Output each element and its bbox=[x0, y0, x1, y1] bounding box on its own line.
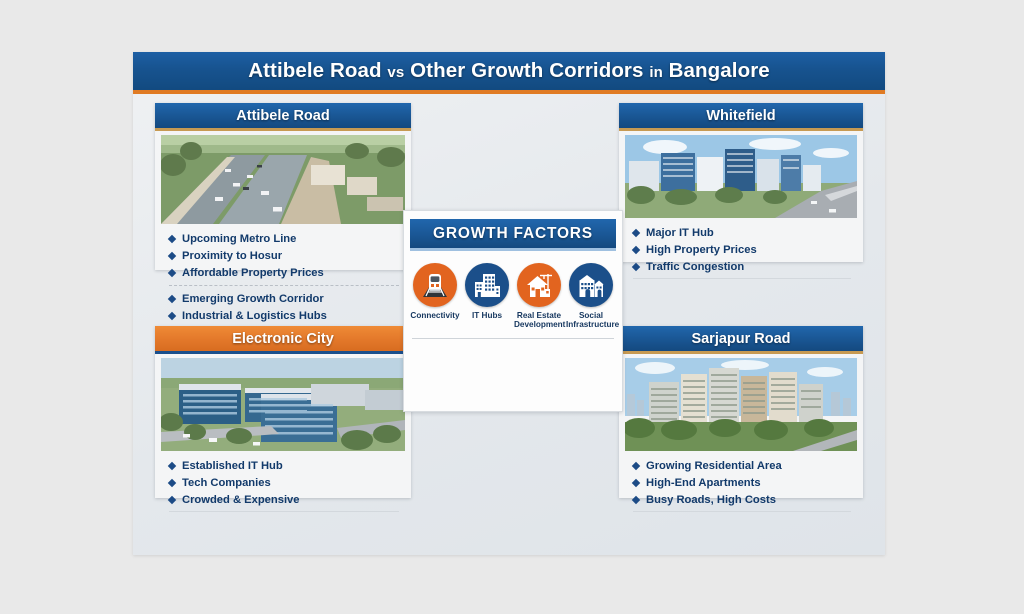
title-part-1: Attibele Road bbox=[248, 59, 381, 82]
panel-photo-sarjapur-road bbox=[625, 358, 857, 451]
screenshot-stage: Attibele Road vs Other Growth Corridors … bbox=[0, 0, 1024, 614]
growth-factor-label: Connectivity bbox=[410, 311, 460, 320]
panel-title: Attibele Road bbox=[236, 108, 329, 124]
list-item: Growing Residential Area bbox=[633, 460, 863, 472]
list-item-label: Traffic Congestion bbox=[646, 261, 744, 273]
metro-train-icon bbox=[413, 263, 457, 307]
growth-factor-label: Real Estate Development bbox=[514, 311, 564, 330]
list-item: Tech Companies bbox=[169, 477, 411, 489]
growth-factors-underline bbox=[412, 338, 614, 339]
list-item: Industrial & Logistics Hubs bbox=[169, 310, 411, 322]
list-item-label: Major IT Hub bbox=[646, 227, 714, 239]
diamond-bullet-icon bbox=[632, 263, 640, 271]
list-item: Busy Roads, High Costs bbox=[633, 494, 863, 506]
list-item-label: Crowded & Expensive bbox=[182, 494, 300, 506]
list-item-label: Tech Companies bbox=[182, 477, 271, 489]
list-item-label: Affordable Property Prices bbox=[182, 267, 324, 279]
list-item-label: High-End Apartments bbox=[646, 477, 761, 489]
growth-factors-list: Connectivity bbox=[404, 251, 622, 330]
growth-factor-it-hubs[interactable]: IT Hubs bbox=[462, 263, 512, 330]
diamond-bullet-icon bbox=[632, 496, 640, 504]
diamond-bullet-icon bbox=[632, 479, 640, 487]
growth-factors-header: GROWTH FACTORS bbox=[410, 219, 616, 251]
title-vs: vs bbox=[387, 64, 404, 81]
list-item: Major IT Hub bbox=[633, 227, 863, 239]
panel-bullets-whitefield: Major IT Hub High Property Prices Traffi… bbox=[619, 218, 863, 285]
list-item: High Property Prices bbox=[633, 244, 863, 256]
growth-factor-label: IT Hubs bbox=[462, 311, 512, 320]
bullet-divider bbox=[169, 285, 399, 286]
civic-buildings-icon bbox=[569, 263, 613, 307]
panel-header-electronic-city: Electronic City bbox=[155, 326, 411, 354]
bullet-endline bbox=[633, 511, 851, 512]
diamond-bullet-icon bbox=[168, 312, 176, 320]
list-item: Crowded & Expensive bbox=[169, 494, 411, 506]
office-buildings-icon bbox=[465, 263, 509, 307]
growth-factors-title: GROWTH FACTORS bbox=[433, 225, 593, 243]
list-item: High-End Apartments bbox=[633, 477, 863, 489]
panel-photo-whitefield bbox=[625, 135, 857, 218]
infographic-title-bar: Attibele Road vs Other Growth Corridors … bbox=[133, 52, 885, 94]
list-item-label: Industrial & Logistics Hubs bbox=[182, 310, 327, 322]
bullet-endline bbox=[633, 278, 851, 279]
bullet-endline bbox=[169, 511, 399, 512]
diamond-bullet-icon bbox=[168, 252, 176, 260]
growth-factor-real-estate[interactable]: Real Estate Development bbox=[514, 263, 564, 330]
list-item: Established IT Hub bbox=[169, 460, 411, 472]
diamond-bullet-icon bbox=[168, 295, 176, 303]
panel-bullets-electronic-city: Established IT Hub Tech Companies Crowde… bbox=[155, 451, 411, 518]
infographic-canvas: Attibele Road vs Other Growth Corridors … bbox=[133, 52, 885, 555]
diamond-bullet-icon bbox=[168, 496, 176, 504]
growth-factor-connectivity[interactable]: Connectivity bbox=[410, 263, 460, 330]
diamond-bullet-icon bbox=[632, 229, 640, 237]
growth-factor-label: Social Infrastructure bbox=[566, 311, 616, 330]
panel-title: Whitefield bbox=[706, 108, 775, 124]
title-part-2: Other Growth Corridors bbox=[410, 59, 643, 82]
list-item: Proximity to Hosur bbox=[169, 250, 411, 262]
diamond-bullet-icon bbox=[168, 269, 176, 277]
panel-header-sarjapur-road: Sarjapur Road bbox=[619, 326, 863, 354]
list-item-label: Upcoming Metro Line bbox=[182, 233, 296, 245]
list-item-label: High Property Prices bbox=[646, 244, 757, 256]
list-item: Affordable Property Prices bbox=[169, 267, 411, 279]
list-item-label: Growing Residential Area bbox=[646, 460, 782, 472]
list-item-label: Busy Roads, High Costs bbox=[646, 494, 776, 506]
growth-factor-social-infra[interactable]: Social Infrastructure bbox=[566, 263, 616, 330]
panel-photo-electronic-city bbox=[161, 358, 405, 451]
diamond-bullet-icon bbox=[168, 479, 176, 487]
growth-factors-panel[interactable]: GROWTH FACTORS bbox=[403, 210, 623, 412]
panel-title: Sarjapur Road bbox=[691, 331, 790, 347]
panel-electronic-city[interactable]: Electronic City bbox=[155, 326, 411, 498]
panel-header-attibele-road: Attibele Road bbox=[155, 103, 411, 131]
diamond-bullet-icon bbox=[632, 246, 640, 254]
house-crane-icon bbox=[517, 263, 561, 307]
title-in: in bbox=[649, 64, 663, 81]
list-item-label: Emerging Growth Corridor bbox=[182, 293, 324, 305]
diamond-bullet-icon bbox=[168, 462, 176, 470]
list-item-label: Established IT Hub bbox=[182, 460, 283, 472]
panel-attibele-road[interactable]: Attibele Road bbox=[155, 103, 411, 270]
panel-title: Electronic City bbox=[232, 331, 334, 347]
panel-bullets-sarjapur-road: Growing Residential Area High-End Apartm… bbox=[619, 451, 863, 518]
list-item-label: Proximity to Hosur bbox=[182, 250, 282, 262]
panel-bullets-attibele-road: Upcoming Metro Line Proximity to Hosur A… bbox=[155, 224, 411, 333]
diamond-bullet-icon bbox=[632, 462, 640, 470]
list-item: Emerging Growth Corridor bbox=[169, 293, 411, 305]
panel-header-whitefield: Whitefield bbox=[619, 103, 863, 131]
panel-photo-attibele-road bbox=[161, 135, 405, 224]
list-item: Traffic Congestion bbox=[633, 261, 863, 273]
title-part-3: Bangalore bbox=[669, 59, 770, 82]
panel-sarjapur-road[interactable]: Sarjapur Road bbox=[619, 326, 863, 498]
page-title: Attibele Road vs Other Growth Corridors … bbox=[248, 59, 770, 83]
diamond-bullet-icon bbox=[168, 235, 176, 243]
panel-whitefield[interactable]: Whitefield bbox=[619, 103, 863, 262]
list-item: Upcoming Metro Line bbox=[169, 233, 411, 245]
